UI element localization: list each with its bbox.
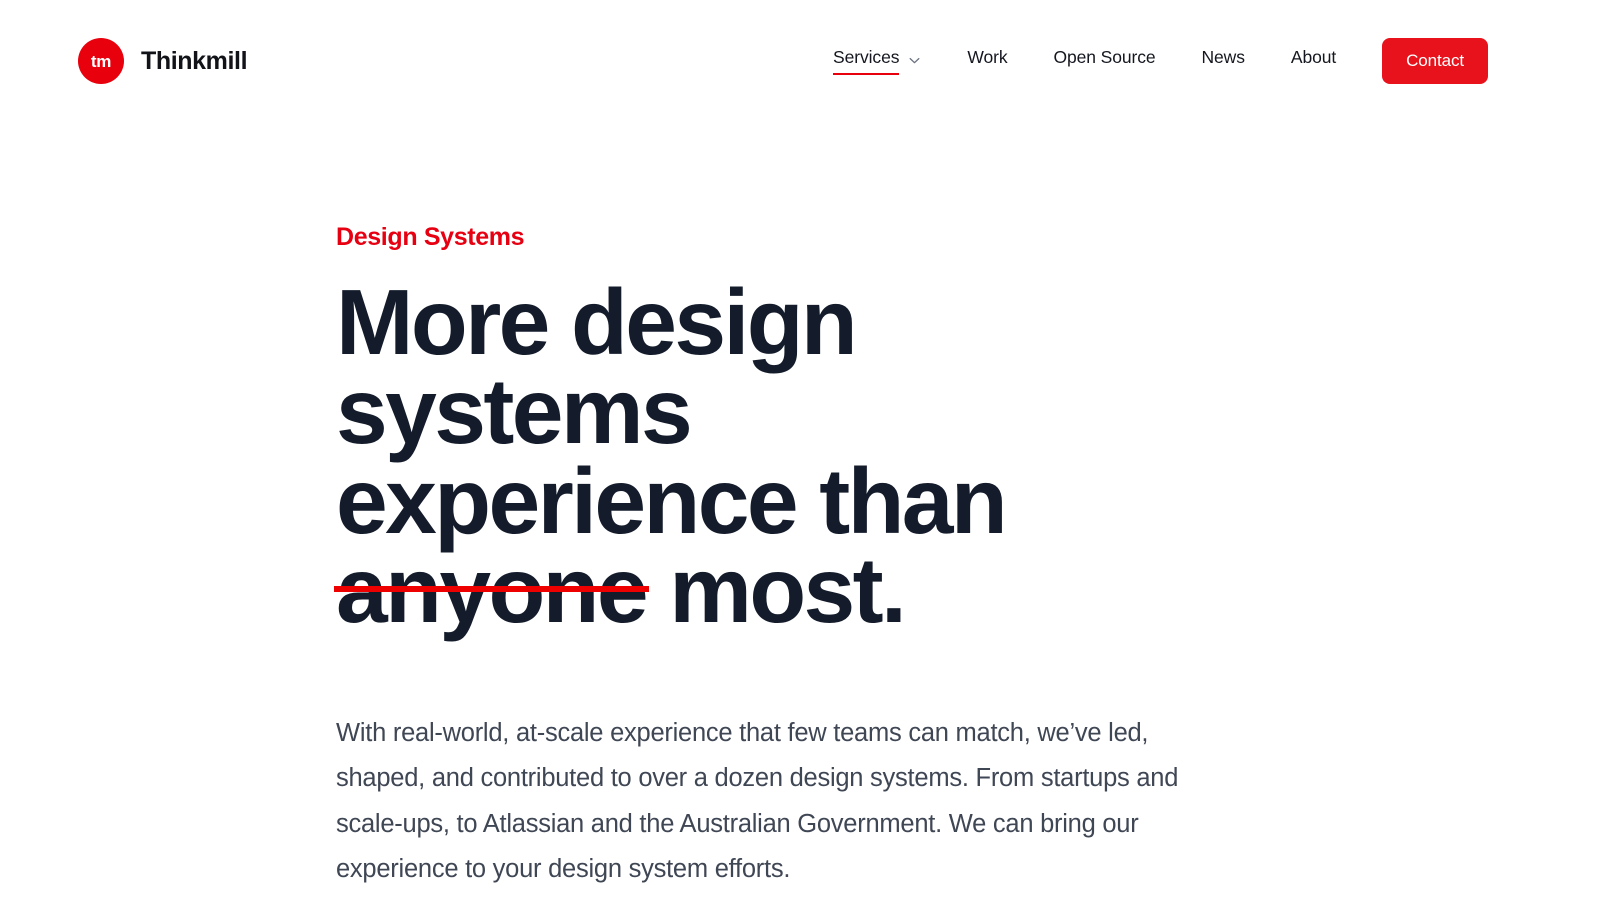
brand-name: Thinkmill <box>141 47 247 76</box>
brand-logo-link[interactable]: tm Thinkmill <box>78 38 247 84</box>
hero-section: Design Systems More design systems exper… <box>0 122 1600 893</box>
main-navigation: Services Work Open Source News <box>833 38 1488 85</box>
nav-item-about[interactable]: About <box>1291 41 1336 81</box>
hero-body-text: With real-world, at-scale experience tha… <box>336 711 1236 893</box>
nav-item-services[interactable]: Services <box>833 41 921 81</box>
hero-heading: More design systems experience than anyo… <box>336 278 1216 635</box>
nav-item-open-source-label: Open Source <box>1053 47 1155 67</box>
hero-eyebrow: Design Systems <box>336 223 1600 252</box>
nav-item-news-label: News <box>1202 47 1245 67</box>
hero-heading-line-3-tail: most. <box>646 538 904 642</box>
hero-heading-line-1: More design systems <box>336 270 855 463</box>
nav-item-services-label: Services <box>833 47 899 67</box>
nav-item-work[interactable]: Work <box>967 41 1007 81</box>
contact-button[interactable]: Contact <box>1382 38 1488 85</box>
nav-item-open-source[interactable]: Open Source <box>1053 41 1155 81</box>
site-header: tm Thinkmill Services Work Open Source <box>0 0 1600 122</box>
nav-item-work-label: Work <box>967 47 1007 67</box>
hero-heading-struck-word: anyone <box>336 546 646 635</box>
thinkmill-logo-icon: tm <box>78 38 124 84</box>
nav-item-about-label: About <box>1291 47 1336 67</box>
chevron-down-icon[interactable] <box>908 54 921 67</box>
nav-item-news[interactable]: News <box>1202 41 1245 81</box>
